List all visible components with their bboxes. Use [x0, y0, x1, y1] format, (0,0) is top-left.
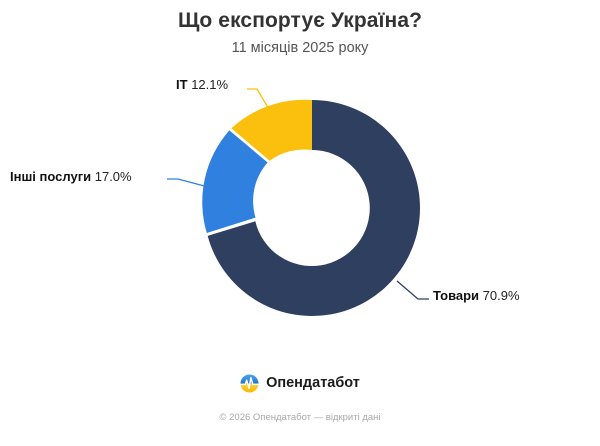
slice-label-other-services-percent: 17.0%: [95, 169, 132, 184]
leader-line-other-services: [167, 179, 208, 187]
slice-label-other-services-category: Інші послуги: [10, 169, 91, 184]
slice-label-goods-category: Товари: [433, 288, 479, 303]
slice-label-it-category: IT: [176, 77, 188, 92]
copyright-text: © 2026 Опендатабот — відкриті дані: [0, 412, 600, 424]
slice-label-goods-percent: 70.9%: [483, 288, 520, 303]
slice-label-other-services: Інші послуги 17.0%: [10, 169, 132, 184]
opendatabot-pulse-logo-icon: [240, 374, 259, 393]
donut-chart-figure: Що експортує Україна? 11 місяців 2025 ро…: [0, 0, 600, 446]
slice-label-it: IT 12.1%: [176, 77, 228, 92]
brand-name: Опендатабот: [266, 374, 360, 393]
leader-line-goods: [397, 281, 429, 299]
slice-label-it-percent: 12.1%: [191, 77, 228, 92]
brand-footer: Опендатабот: [0, 374, 600, 393]
slice-label-goods: Товари 70.9%: [433, 288, 520, 303]
